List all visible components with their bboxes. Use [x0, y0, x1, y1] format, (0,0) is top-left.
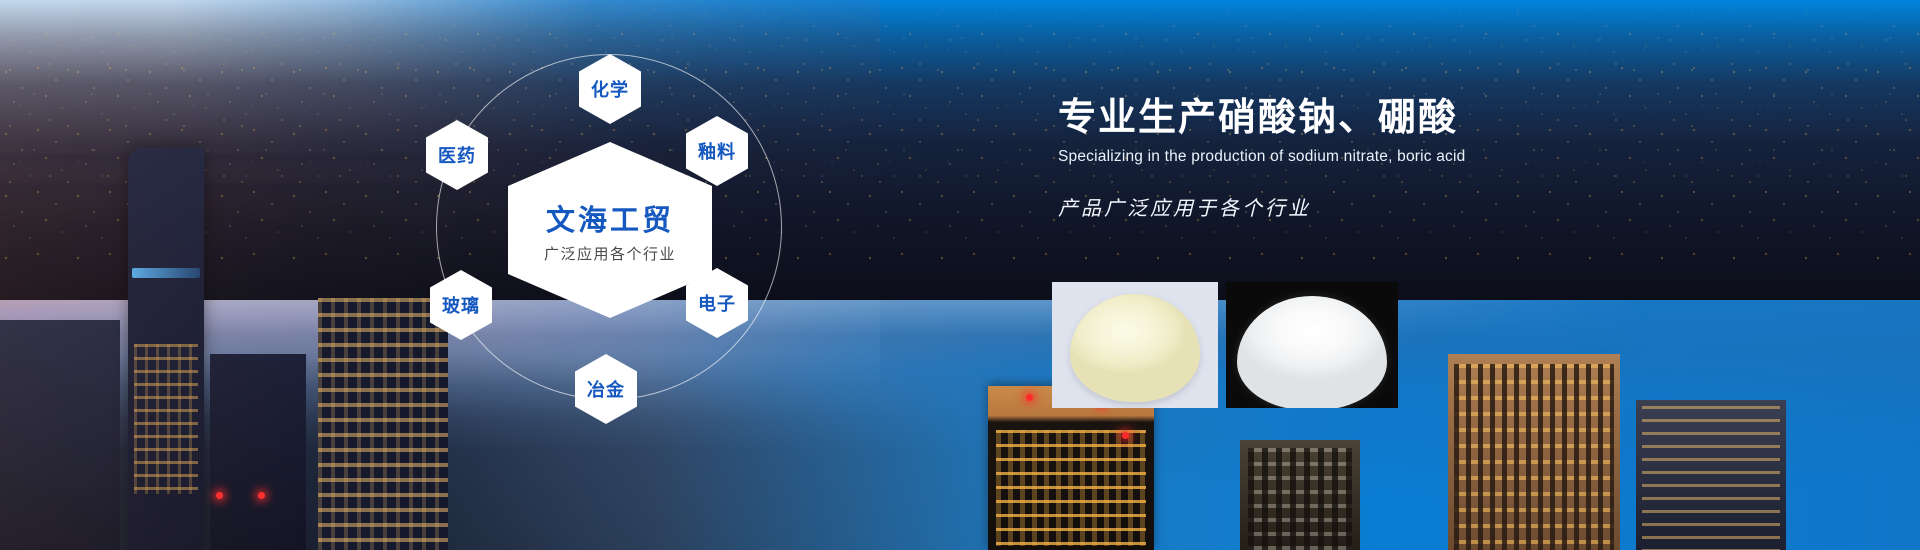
industry-label: 冶金 — [587, 376, 625, 402]
powder-pile — [1070, 294, 1200, 402]
product-photo-boric-acid[interactable] — [1226, 282, 1398, 408]
brand-name: 文海工贸 — [546, 197, 674, 239]
industry-label: 电子 — [698, 290, 736, 316]
industry-hex-diagram: 文海工贸 广泛应用各个行业 化学 釉料 医药 玻璃 电子 冶金 — [420, 28, 800, 428]
background-color-tone — [0, 0, 1920, 550]
banner-headline: 专业生产硝酸钠、硼酸 — [1058, 96, 1838, 139]
banner-copy: 专业生产硝酸钠、硼酸 Specializing in the productio… — [1058, 96, 1838, 221]
banner-subhead: Specializing in the production of sodium… — [1058, 148, 1838, 166]
industry-label: 医药 — [438, 142, 476, 168]
industry-label: 化学 — [591, 76, 629, 102]
hero-banner: 文海工贸 广泛应用各个行业 化学 釉料 医药 玻璃 电子 冶金 专业生产硝酸钠、… — [0, 0, 1920, 550]
brand-subtitle: 广泛应用各个行业 — [544, 243, 676, 264]
product-photo-sodium-nitrate[interactable] — [1052, 282, 1218, 408]
industry-label: 玻璃 — [442, 292, 480, 318]
banner-tagline: 产品广泛应用于各个行业 — [1058, 192, 1838, 221]
industry-label: 釉料 — [698, 138, 736, 164]
powder-pile — [1237, 296, 1387, 408]
